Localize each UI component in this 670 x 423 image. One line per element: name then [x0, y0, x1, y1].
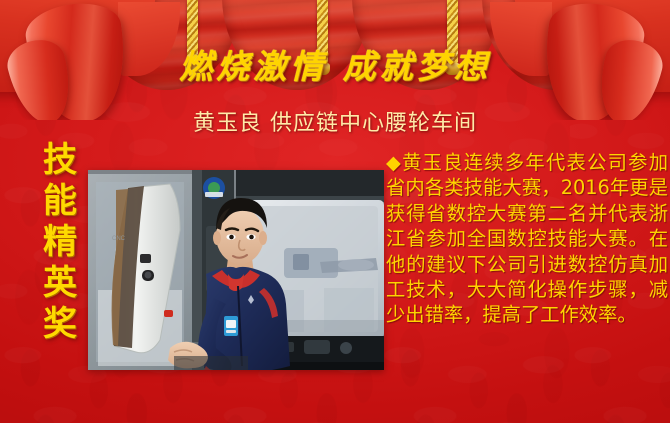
- poster-subtitle: 黄玉良 供应链中心腰轮车间: [0, 105, 670, 137]
- photo-illustration: CNC: [88, 170, 384, 370]
- award-label-char: 精: [38, 222, 82, 263]
- award-description-text: ◆黄玉良连续多年代表公司参加省内各类技能大赛，2016年更是获得省数控大赛第二名…: [386, 150, 668, 328]
- award-label-vertical: 技 能 精 英 奖: [38, 140, 82, 345]
- svg-text:CNC: CNC: [112, 236, 126, 242]
- poster-title: 燃烧激情 成就梦想: [0, 40, 670, 88]
- award-label-char: 技: [38, 140, 82, 181]
- award-poster: 燃烧激情 成就梦想 黄玉良 供应链中心腰轮车间 技 能 精 英 奖: [0, 0, 670, 423]
- award-label-char: 奖: [38, 304, 82, 345]
- award-label-char: 能: [38, 181, 82, 222]
- award-recipient-photo: CNC: [88, 170, 384, 370]
- award-label-char: 英: [38, 263, 82, 304]
